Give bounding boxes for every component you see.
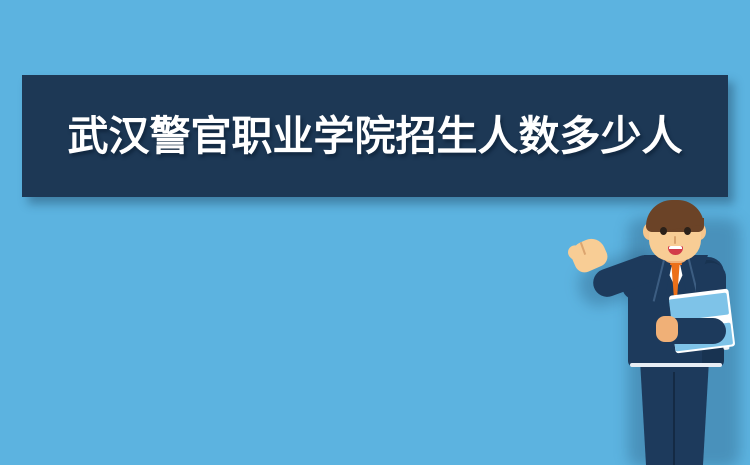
teeth <box>669 246 682 249</box>
page-title: 武汉警官职业学院招生人数多少人 <box>68 116 683 157</box>
poster-canvas: 武汉警官职业学院招生人数多少人 <box>0 0 750 465</box>
eye-left <box>660 227 667 235</box>
hand-holding-books <box>656 316 678 342</box>
trouser-crease <box>673 372 675 465</box>
nose <box>674 236 676 244</box>
jacket-hem <box>630 363 722 367</box>
businessman-illustration <box>560 200 750 465</box>
title-banner: 武汉警官职业学院招生人数多少人 <box>22 75 728 197</box>
eye-right <box>684 227 691 235</box>
